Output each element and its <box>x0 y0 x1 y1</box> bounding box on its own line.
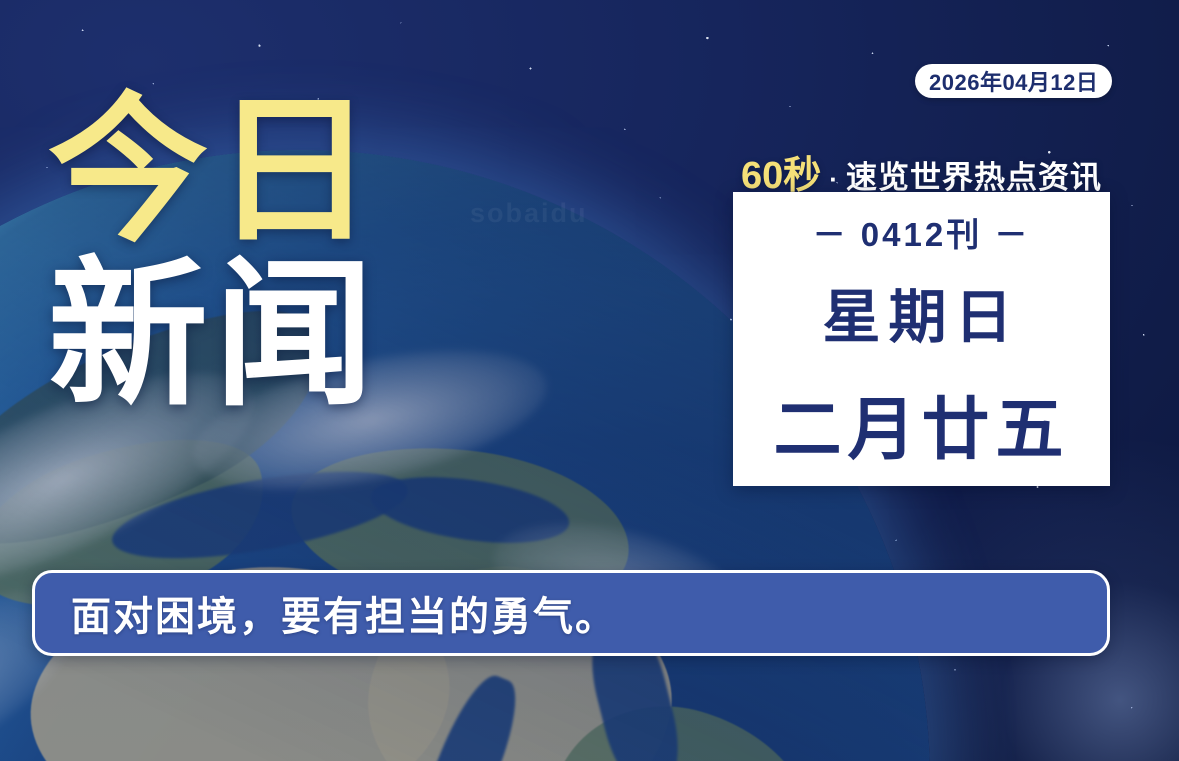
tagline-seconds: 60秒 <box>741 144 821 199</box>
date-badge: 2026年04月12日 <box>915 64 1112 98</box>
title-line-today: 今日 <box>48 96 380 246</box>
issue-number: － 0412刊 － <box>813 208 1031 256</box>
quote-text: 面对困境，要有担当的勇气。 <box>71 584 617 642</box>
title-line-news: 新闻 <box>48 260 380 410</box>
news-poster: sobaidu 今日 新闻 2026年04月12日 60秒 · 速览世界热点资讯… <box>0 0 1179 761</box>
weekday-label: 星期日 <box>822 270 1020 354</box>
tagline: 60秒 · 速览世界热点资讯 <box>741 144 1102 199</box>
lunar-date-label: 二月廿五 <box>773 374 1069 473</box>
date-info-card: － 0412刊 － 星期日 二月廿五 <box>733 192 1110 486</box>
watermark-text: sobaidu <box>470 198 588 229</box>
quote-bar: 面对困境，要有担当的勇气。 <box>32 570 1110 656</box>
tagline-description: 速览世界热点资讯 <box>846 152 1102 197</box>
tagline-separator: · <box>829 164 838 195</box>
page-title: 今日 新闻 <box>48 96 380 411</box>
